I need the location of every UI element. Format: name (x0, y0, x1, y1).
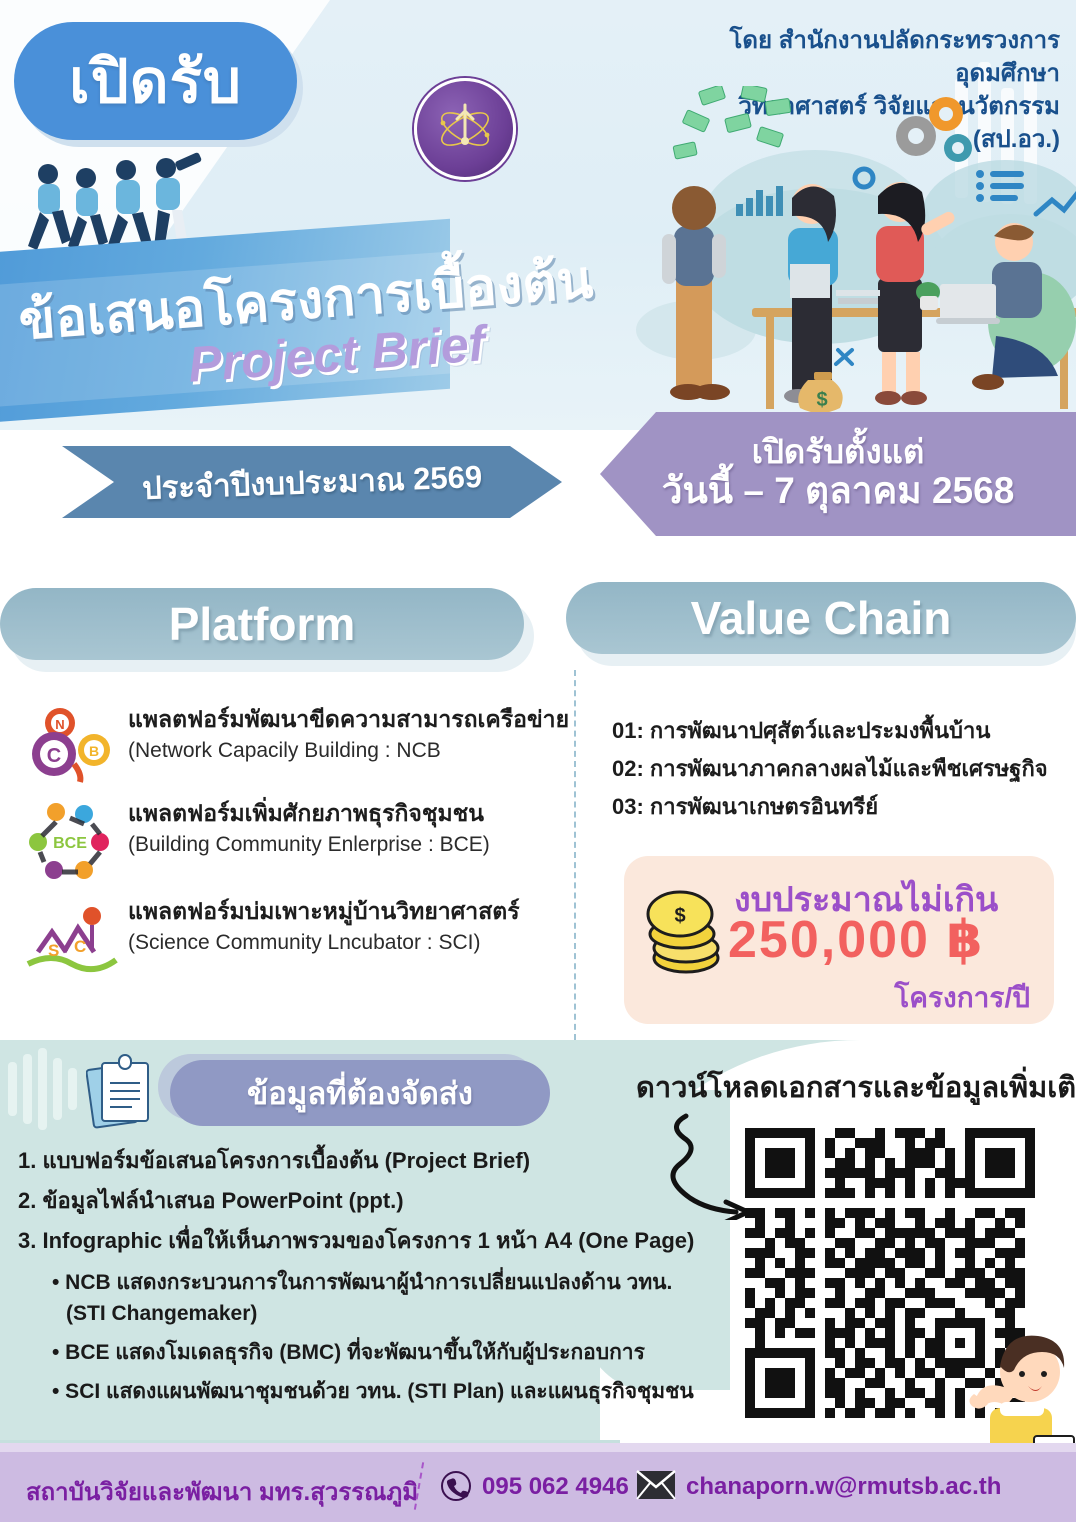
svg-text:C: C (47, 745, 61, 767)
open-badge-label: เปิดรับ (69, 34, 242, 129)
footer-organization: สถาบันวิจัยและพัฒนา มทร.สุวรรณภูมิ (26, 1472, 418, 1511)
svg-text:BCE: BCE (53, 835, 87, 852)
bce-people-hexagon-icon: BCE (22, 800, 118, 884)
envelope-icon (636, 1470, 676, 1500)
value-chain-item-01-num: 01: (612, 718, 644, 743)
curved-arrow-icon (660, 1110, 756, 1220)
office-team-illustration: $ (640, 86, 1076, 426)
qr-title: ดาวน์โหลดเอกสารและข้อมูลเพิ่มเติม (636, 1064, 1066, 1110)
document-item-3: 3. Infographic เพื่อให้เห็นภาพรวมของโครง… (18, 1230, 708, 1252)
atom-emblem-icon (433, 97, 497, 161)
platform-item-bce-thai: แพลตฟอร์มเพิ่มศักยภาพธุรกิจชุมชน (128, 800, 490, 828)
platform-heading-pill: Platform (0, 588, 524, 660)
value-chain-item-03-text: การพัฒนาเกษตรอินทรีย์ (650, 794, 878, 819)
documents-heading-pill: ข้อมูลที่ต้องจัดส่ง (170, 1060, 550, 1126)
platform-heading-label: Platform (169, 597, 356, 651)
value-chain-item-02-text: การพัฒนาภาคกลางผลไม้และพืชเศรษฐกิจ (650, 756, 1048, 781)
platform-item-ncb-thai: แพลตฟอร์มพัฒนาขีดความสามารถเครือข่าย (128, 706, 569, 734)
phone-icon (440, 1470, 472, 1502)
value-chain-item-02-num: 02: (612, 756, 644, 781)
platform-item-ncb-english: (Network Capacily Building : NCB (128, 737, 569, 765)
open-date-line-2: วันนี้ – 7 ตุลาคม 2568 (662, 470, 1015, 513)
ncb-gears-icon: N B C (22, 706, 118, 790)
footer-phone[interactable]: 095 062 4946 (482, 1473, 629, 1501)
sci-village-icon: S C (22, 898, 118, 982)
open-badge: เปิดรับ (14, 22, 297, 140)
document-subitem-bce: • BCE แสดงโมเดลธุรกิจ (BMC) ที่จะพัฒนาขึ… (52, 1340, 708, 1367)
wave-lines-decoration (6, 1048, 84, 1130)
poster-root: เปิดรับ โดย สำนักงานปลัดกระทรวงการอุดมศึ… (0, 0, 1076, 1522)
platform-item-bce-text: แพลตฟอร์มเพิ่มศักยภาพธุรกิจชุมชน (Buildi… (128, 800, 490, 859)
platform-item-sci-english: (Science Community Lncubator : SCI) (128, 929, 520, 957)
value-chain-heading-label: Value Chain (691, 591, 952, 645)
value-chain-list: 01: การพัฒนาปศุสัตว์และประมงพื้นบ้าน 02:… (612, 712, 1048, 825)
document-subitem-sci: • SCI แสดงแผนพัฒนาชุมชนด้วย วทน. (STI Pl… (52, 1379, 708, 1406)
value-chain-item-01-text: การพัฒนาปศุสัตว์และประมงพื้นบ้าน (650, 718, 990, 743)
byline-line-1: โดย สำนักงานปลัดกระทรวงการอุดมศึกษา (660, 24, 1060, 90)
platform-item-ncb: N B C แพลตฟอร์มพัฒนาขีดความสามารถเครือข่… (22, 706, 569, 790)
platform-item-ncb-text: แพลตฟอร์มพัฒนาขีดความสามารถเครือข่าย (Ne… (128, 706, 569, 765)
document-subitem-ncb: • NCB แสดงกระบวนการในการพัฒนาผู้นำการเปล… (52, 1270, 708, 1297)
value-chain-item-01: 01: การพัฒนาปศุสัตว์และประมงพื้นบ้าน (612, 712, 1048, 750)
platform-item-sci: S C แพลตฟอร์มบ่มเพาะหมู่บ้านวิทยาศาสตร์ … (22, 898, 520, 982)
svg-text:C: C (74, 937, 86, 956)
fiscal-year-label: ประจำปีงบประมาณ 2569 (141, 451, 483, 513)
platform-item-sci-thai: แพลตฟอร์มบ่มเพาะหมู่บ้านวิทยาศาสตร์ (128, 898, 520, 926)
budget-per-unit: โครงการ/ปี (894, 976, 1030, 1020)
document-item-2: 2. ข้อมูลไฟล์นำเสนอ PowerPoint (ppt.) (18, 1190, 708, 1212)
document-subitem-ncb-cont: (STI Changemaker) (66, 1301, 708, 1328)
value-chain-item-03: 03: การพัฒนาเกษตรอินทรีย์ (612, 788, 1048, 826)
svg-text:S: S (48, 941, 59, 960)
ministry-logo-icon (414, 78, 516, 180)
platform-item-sci-text: แพลตฟอร์มบ่มเพาะหมู่บ้านวิทยาศาสตร์ (Sci… (128, 898, 520, 957)
platform-item-bce: BCE แพลตฟอร์มเพิ่มศักยภาพธุรกิจชุมชน (Bu… (22, 800, 490, 884)
svg-text:$: $ (816, 389, 827, 411)
documents-list: 1. แบบฟอร์มข้อเสนอโครงการเบื้องต้น (Proj… (18, 1150, 708, 1418)
value-chain-item-02: 02: การพัฒนาภาคกลางผลไม้และพืชเศรษฐกิจ (612, 750, 1048, 788)
platform-item-bce-english: (Building Community Enlerprise : BCE) (128, 831, 490, 859)
clipboard-documents-icon (86, 1053, 158, 1131)
svg-text:$: $ (674, 905, 685, 927)
open-date-line-1: เปิดรับตั้งแต่ (752, 435, 925, 470)
fiscal-year-ribbon: ประจำปีงบประมาณ 2569 (62, 446, 562, 518)
value-chain-heading-pill: Value Chain (566, 582, 1076, 654)
budget-amount: 250,000 ฿ (728, 910, 985, 970)
coins-stack-icon: $ (642, 884, 732, 976)
budget-box: $ งบประมาณไม่เกิน 250,000 ฿ โครงการ/ปี (624, 856, 1054, 1024)
svg-text:B: B (89, 743, 99, 759)
column-divider (574, 670, 576, 1040)
footer-email[interactable]: chanaporn.w@rmutsb.ac.th (686, 1473, 1001, 1501)
documents-heading-label: ข้อมูลที่ต้องจัดส่ง (247, 1068, 473, 1118)
svg-text:N: N (55, 717, 64, 732)
value-chain-item-03-num: 03: (612, 794, 644, 819)
document-item-1: 1. แบบฟอร์มข้อเสนอโครงการเบื้องต้น (Proj… (18, 1150, 708, 1172)
open-date-ribbon: เปิดรับตั้งแต่ วันนี้ – 7 ตุลาคม 2568 (600, 412, 1076, 536)
